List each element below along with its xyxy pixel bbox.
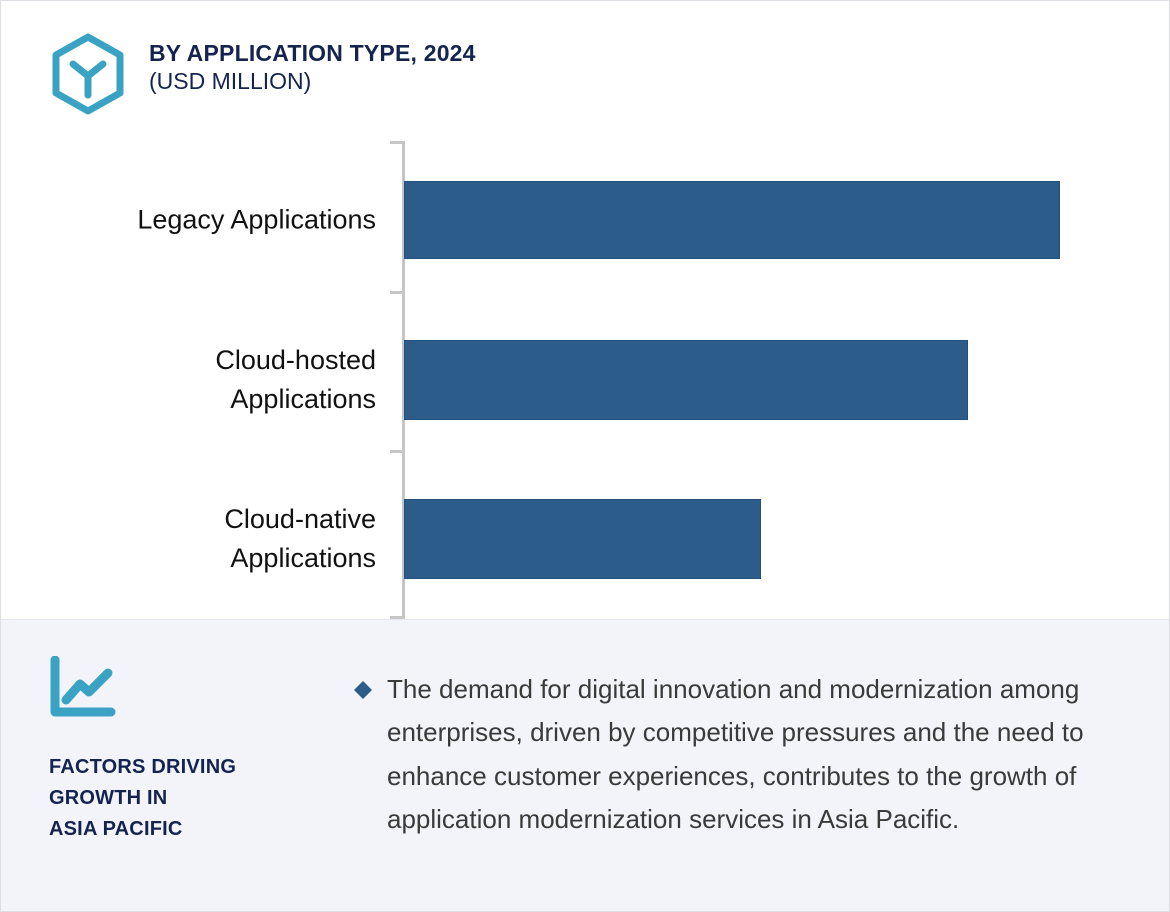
footer-heading-line: ASIA PACIFIC: [49, 814, 349, 845]
chart-header: BY APPLICATION TYPE, 2024 (USD MILLION): [49, 31, 476, 115]
page-subtitle: (USD MILLION): [149, 67, 476, 95]
footer-left-column: FACTORS DRIVING GROWTH IN ASIA PACIFIC: [49, 656, 349, 845]
chart-card: BY APPLICATION TYPE, 2024 (USD MILLION) …: [0, 0, 1170, 912]
bar-category-label: Legacy Applications: [36, 200, 376, 239]
bar-cloud-hosted-applications: [404, 340, 968, 420]
bar-category-label-line: Legacy Applications: [36, 200, 376, 239]
bar-category-label: Cloud-hosted Applications: [36, 341, 376, 419]
axis-tick-1: [390, 291, 404, 294]
axis-tick-2: [390, 450, 404, 453]
footer-heading-line: GROWTH IN: [49, 783, 349, 814]
bar-category-label-line: Applications: [36, 539, 376, 578]
bar-row: Legacy Applications: [1, 181, 1170, 259]
page-title: BY APPLICATION TYPE, 2024: [149, 39, 476, 67]
insight-footer: FACTORS DRIVING GROWTH IN ASIA PACIFIC T…: [1, 619, 1170, 911]
footer-body-text: The demand for digital innovation and mo…: [387, 668, 1128, 842]
bar-row: Cloud-hosted Applications: [1, 340, 1170, 420]
bar-chart-plot-area: Legacy Applications Cloud-hosted Applica…: [1, 131, 1170, 621]
footer-heading-line: FACTORS DRIVING: [49, 752, 349, 783]
bar-legacy-applications: [404, 181, 1060, 259]
bar-row: Cloud-native Applications: [1, 499, 1170, 579]
hexagon-y-logo-icon: [49, 33, 127, 115]
axis-tick-0: [390, 141, 404, 144]
bar-category-label-line: Cloud-native: [36, 500, 376, 539]
bar-category-label-line: Applications: [36, 380, 376, 419]
bar-category-label-line: Cloud-hosted: [36, 341, 376, 380]
bar-category-label: Cloud-native Applications: [36, 500, 376, 578]
title-block: BY APPLICATION TYPE, 2024 (USD MILLION): [149, 31, 476, 95]
bar-cloud-native-applications: [404, 499, 761, 579]
line-chart-growth-icon: [49, 656, 119, 718]
footer-body: The demand for digital innovation and mo…: [353, 668, 1128, 842]
diamond-bullet-icon: [353, 680, 373, 700]
footer-heading: FACTORS DRIVING GROWTH IN ASIA PACIFIC: [49, 752, 349, 845]
